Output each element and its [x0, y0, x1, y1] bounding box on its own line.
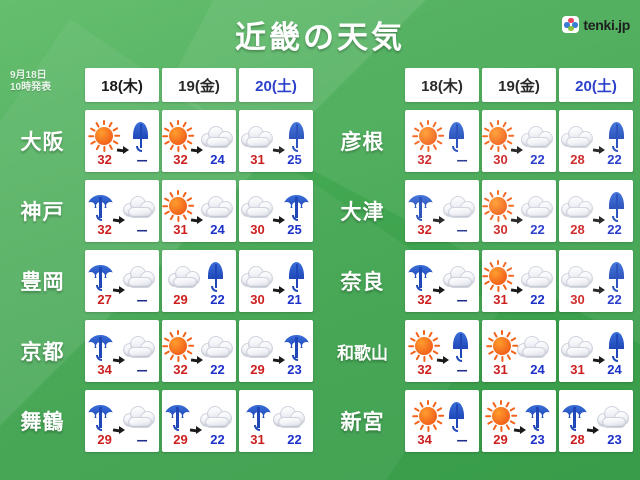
forecast-cell[interactable]: 2822	[559, 110, 633, 172]
forecast-cells: 29---29223122	[85, 390, 313, 452]
forecast-cell[interactable]: 3021	[239, 250, 313, 312]
sun-icon	[163, 331, 193, 361]
weather-icon-group	[168, 258, 230, 294]
weather-icon-group	[163, 118, 235, 154]
city-name[interactable]: 大阪	[0, 126, 85, 156]
forecast-cell[interactable]: 3122	[482, 250, 556, 312]
temp-min: ---	[457, 363, 467, 377]
temp-max: 32	[173, 153, 187, 167]
temp-max: 30	[493, 223, 507, 237]
forecast-cell[interactable]: 2822	[559, 180, 633, 242]
umbrella-icon	[164, 401, 192, 431]
temp-max: 31	[493, 293, 507, 307]
weather-icon-group	[241, 328, 311, 364]
forecast-row: 豊岡27---29223021	[0, 246, 318, 316]
forecast-row: 大津32---30222822	[320, 176, 638, 246]
date-header-1: 19(金)	[482, 68, 556, 102]
forecast-row: 和歌山32---31243124	[320, 316, 638, 386]
cloud-icon	[200, 402, 234, 430]
weather-icon-group	[241, 258, 311, 294]
weather-icon-group	[413, 398, 471, 434]
temp-min: ---	[137, 363, 147, 377]
cloud-icon	[201, 122, 235, 150]
umbrella-up-icon	[443, 401, 471, 431]
umbrella-up-icon	[603, 261, 631, 291]
umbrella-icon	[283, 191, 311, 221]
temp-max: 31	[250, 433, 264, 447]
weather-icon-group	[87, 328, 157, 364]
forecast-row: 舞鶴29---29223122	[0, 386, 318, 456]
weather-icon-group	[163, 328, 235, 364]
sun-icon	[483, 191, 513, 221]
forecast-cells: 32---31243124	[405, 320, 633, 382]
weather-icon-group	[483, 258, 555, 294]
forecast-cells: 32---31243025	[85, 180, 313, 242]
umbrella-icon	[407, 261, 435, 291]
temp-min: 24	[607, 363, 621, 377]
umbrella-icon	[283, 331, 311, 361]
sun-icon	[486, 401, 516, 431]
cloud-icon	[168, 262, 202, 290]
temp-min: ---	[137, 223, 147, 237]
weather-icon-group	[561, 258, 631, 294]
forecast-cell[interactable]: 32---	[85, 110, 159, 172]
forecast-cell[interactable]: 2922	[162, 390, 236, 452]
forecast-cells: 32---32243125	[85, 110, 313, 172]
issue-hour: 10時発表	[10, 82, 82, 94]
temp-max: 29	[173, 433, 187, 447]
temp-max: 29	[250, 363, 264, 377]
temp-max: 30	[250, 293, 264, 307]
temp-max: 32	[97, 153, 111, 167]
forecast-cell[interactable]: 32---	[405, 110, 479, 172]
temp-max: 30	[250, 223, 264, 237]
cloud-icon	[521, 122, 555, 150]
city-name[interactable]: 舞鶴	[0, 406, 85, 436]
forecast-row: 神戸32---31243025	[0, 176, 318, 246]
temp-min: ---	[137, 433, 147, 447]
temp-max: 34	[97, 363, 111, 377]
weather-icon-group	[487, 328, 551, 364]
weather-icon-group	[87, 398, 157, 434]
temp-min: 24	[530, 363, 544, 377]
weather-icon-group	[561, 398, 631, 434]
tenki-logo-icon	[562, 16, 579, 33]
forecast-cells: 27---29223021	[85, 250, 313, 312]
weather-icon-group	[89, 118, 155, 154]
forecast-cell[interactable]: 3122	[239, 390, 313, 452]
weather-icon-group	[407, 258, 477, 294]
umbrella-icon	[407, 191, 435, 221]
forecast-cell[interactable]: 2823	[559, 390, 633, 452]
temp-min: 22	[607, 293, 621, 307]
forecast-cell[interactable]: 32---	[85, 180, 159, 242]
page-title: 近畿の天気	[0, 12, 640, 57]
weather-icon-group	[409, 328, 475, 364]
umbrella-up-icon	[202, 261, 230, 291]
forecast-cells: 34---32222923	[85, 320, 313, 382]
forecast-cell[interactable]: 3125	[239, 110, 313, 172]
cloud-icon	[561, 122, 595, 150]
temp-max: 32	[173, 363, 187, 377]
date-header-row-left: 18(木) 19(金) 20(土)	[85, 68, 313, 102]
temp-min: 22	[287, 433, 301, 447]
date-header-row-right: 18(木) 19(金) 20(土)	[405, 68, 633, 102]
forecast-cell[interactable]: 3124	[559, 320, 633, 382]
forecast-cell[interactable]: 34---	[85, 320, 159, 382]
umbrella-up-icon	[603, 191, 631, 221]
sun-icon	[483, 121, 513, 151]
weather-icon-group	[87, 258, 157, 294]
temp-max: 32	[97, 223, 111, 237]
forecast-row: 奈良32---31223022	[320, 246, 638, 316]
temp-max: 34	[417, 433, 431, 447]
temp-min: ---	[137, 153, 147, 167]
sun-icon	[413, 401, 443, 431]
forecast-cell[interactable]: 34---	[405, 390, 479, 452]
temp-max: 29	[97, 433, 111, 447]
temp-max: 31	[250, 153, 264, 167]
umbrella-up-icon	[283, 261, 311, 291]
umbrella-icon	[87, 331, 115, 361]
date-header-0: 18(木)	[405, 68, 479, 102]
forecast-cell[interactable]: 3222	[162, 320, 236, 382]
temp-max: 30	[570, 293, 584, 307]
weather-icon-group	[561, 328, 631, 364]
temperature-group: 3124	[482, 363, 556, 377]
city-name[interactable]: 神戸	[0, 196, 85, 226]
sun-icon	[487, 331, 517, 361]
forecast-row: 京都34---32222923	[0, 316, 318, 386]
temp-max: 29	[173, 293, 187, 307]
sun-icon	[89, 121, 119, 151]
cloud-icon	[521, 262, 555, 290]
forecast-cell[interactable]: 3022	[482, 110, 556, 172]
umbrella-up-icon	[447, 331, 475, 361]
temp-min: 21	[287, 293, 301, 307]
temp-min: 25	[287, 223, 301, 237]
temperature-group: 2922	[162, 293, 236, 307]
weather-icon-group	[407, 188, 477, 224]
umbrella-up-icon	[603, 331, 631, 361]
forecast-cells: 34---29232823	[405, 390, 633, 452]
weather-icon-group	[561, 118, 631, 154]
temp-min: 25	[287, 153, 301, 167]
cloud-icon	[201, 332, 235, 360]
temp-min: 24	[210, 223, 224, 237]
city-name[interactable]: 大津	[320, 196, 405, 226]
temperature-group: 34---	[405, 433, 479, 447]
forecast-cell[interactable]: 3124	[482, 320, 556, 382]
temp-max: 32	[417, 363, 431, 377]
temp-max: 31	[493, 363, 507, 377]
umbrella-icon	[245, 401, 273, 431]
sun-icon	[163, 191, 193, 221]
weather-icon-group	[561, 188, 631, 224]
city-name[interactable]: 彦根	[320, 126, 405, 156]
city-name[interactable]: 京都	[0, 336, 85, 366]
forecast-cells: 32---31223022	[405, 250, 633, 312]
city-name[interactable]: 新宮	[320, 406, 405, 436]
cloud-icon	[123, 332, 157, 360]
temp-min: ---	[457, 153, 467, 167]
cloud-icon	[201, 192, 235, 220]
umbrella-up-icon	[127, 121, 155, 151]
temp-min: 22	[210, 293, 224, 307]
sun-icon	[413, 121, 443, 151]
temp-min: 23	[287, 363, 301, 377]
sun-icon	[163, 121, 193, 151]
cloud-icon	[443, 192, 477, 220]
temp-max: 28	[570, 153, 584, 167]
forecast-cells: 32---30222822	[405, 180, 633, 242]
weather-icon-group	[241, 118, 311, 154]
temp-min: ---	[457, 293, 467, 307]
forecast-cell[interactable]: 3025	[239, 180, 313, 242]
temp-min: 23	[530, 433, 544, 447]
cloud-icon	[241, 262, 275, 290]
weather-icon-group	[483, 118, 555, 154]
umbrella-icon	[87, 401, 115, 431]
weather-icon-group	[241, 188, 311, 224]
temp-max: 32	[417, 223, 431, 237]
cloud-icon	[521, 192, 555, 220]
temp-min: 22	[530, 223, 544, 237]
issue-time: 9月18日 10時発表	[10, 70, 82, 94]
weather-icon-group	[163, 188, 235, 224]
weather-icon-group	[164, 398, 234, 434]
temp-min: ---	[457, 433, 467, 447]
temp-max: 28	[570, 433, 584, 447]
temp-max: 30	[493, 153, 507, 167]
cloud-icon	[241, 192, 275, 220]
temp-min: 22	[210, 433, 224, 447]
cloud-icon	[123, 262, 157, 290]
umbrella-up-icon	[443, 121, 471, 151]
forecast-cell[interactable]: 3224	[162, 110, 236, 172]
forecast-row: 新宮34---29232823	[320, 386, 638, 456]
forecast-row: 彦根32---30222822	[320, 106, 638, 176]
forecast-cell[interactable]: 3022	[559, 250, 633, 312]
temp-min: 22	[607, 223, 621, 237]
cloud-icon	[597, 402, 631, 430]
temp-max: 31	[570, 363, 584, 377]
cloud-icon	[561, 332, 595, 360]
temp-min: 22	[530, 153, 544, 167]
temp-min: 23	[607, 433, 621, 447]
temperature-group: 32---	[405, 153, 479, 167]
umbrella-icon	[87, 261, 115, 291]
weather-icon-group	[87, 188, 157, 224]
issue-date: 9月18日	[10, 70, 82, 82]
temp-max: 32	[417, 153, 431, 167]
umbrella-up-icon	[283, 121, 311, 151]
weather-forecast-page: 近畿の天気 tenki.jp 9月18日 10時発表 18(木) 19(金) 2…	[0, 0, 640, 480]
logo-text: tenki.jp	[583, 17, 630, 33]
temp-max: 29	[493, 433, 507, 447]
cloud-icon	[443, 262, 477, 290]
cloud-icon	[517, 332, 551, 360]
forecast-cells: 32---30222822	[405, 110, 633, 172]
weather-icon-group	[486, 398, 552, 434]
cloud-icon	[273, 402, 307, 430]
cloud-icon	[561, 262, 595, 290]
temp-min: ---	[457, 223, 467, 237]
forecast-grid-left: 大阪32---32243125神戸32---31243025豊岡27---292…	[0, 106, 318, 456]
temperature-group: 3122	[239, 433, 313, 447]
weather-icon-group	[413, 118, 471, 154]
cloud-icon	[561, 192, 595, 220]
temp-min: 22	[607, 153, 621, 167]
temp-max: 28	[570, 223, 584, 237]
forecast-cell[interactable]: 27---	[85, 250, 159, 312]
forecast-cell[interactable]: 29---	[85, 390, 159, 452]
temp-max: 32	[417, 293, 431, 307]
cloud-icon	[241, 122, 275, 150]
forecast-cell[interactable]: 32---	[405, 180, 479, 242]
forecast-cell[interactable]: 3124	[162, 180, 236, 242]
date-header-0: 18(木)	[85, 68, 159, 102]
temp-min: 24	[210, 153, 224, 167]
sun-icon	[409, 331, 439, 361]
cloud-icon	[241, 332, 275, 360]
forecast-cell[interactable]: 2922	[162, 250, 236, 312]
temp-min: 22	[210, 363, 224, 377]
umbrella-up-icon	[603, 121, 631, 151]
temp-min: ---	[137, 293, 147, 307]
page-header: 近畿の天気 tenki.jp	[0, 0, 640, 62]
date-header-1: 19(金)	[162, 68, 236, 102]
forecast-row: 大阪32---32243125	[0, 106, 318, 176]
umbrella-icon	[87, 191, 115, 221]
forecast-cell[interactable]: 32---	[405, 250, 479, 312]
date-header-2: 20(土)	[559, 68, 633, 102]
cloud-icon	[123, 192, 157, 220]
weather-icon-group	[245, 398, 307, 434]
umbrella-icon	[524, 401, 552, 431]
tenki-jp-logo[interactable]: tenki.jp	[562, 16, 630, 33]
weather-icon-group	[483, 188, 555, 224]
date-header-2: 20(土)	[239, 68, 313, 102]
temp-max: 31	[173, 223, 187, 237]
forecast-cell[interactable]: 2923	[239, 320, 313, 382]
temp-max: 27	[97, 293, 111, 307]
city-name[interactable]: 豊岡	[0, 266, 85, 296]
umbrella-icon	[561, 401, 589, 431]
forecast-grid-right: 彦根32---30222822大津32---30222822奈良32---312…	[320, 106, 638, 456]
city-name[interactable]: 奈良	[320, 266, 405, 296]
sun-icon	[483, 261, 513, 291]
cloud-icon	[123, 402, 157, 430]
temp-min: 22	[530, 293, 544, 307]
city-name[interactable]: 和歌山	[320, 339, 405, 364]
forecast-cell[interactable]: 32---	[405, 320, 479, 382]
forecast-cell[interactable]: 3022	[482, 180, 556, 242]
forecast-cell[interactable]: 2923	[482, 390, 556, 452]
